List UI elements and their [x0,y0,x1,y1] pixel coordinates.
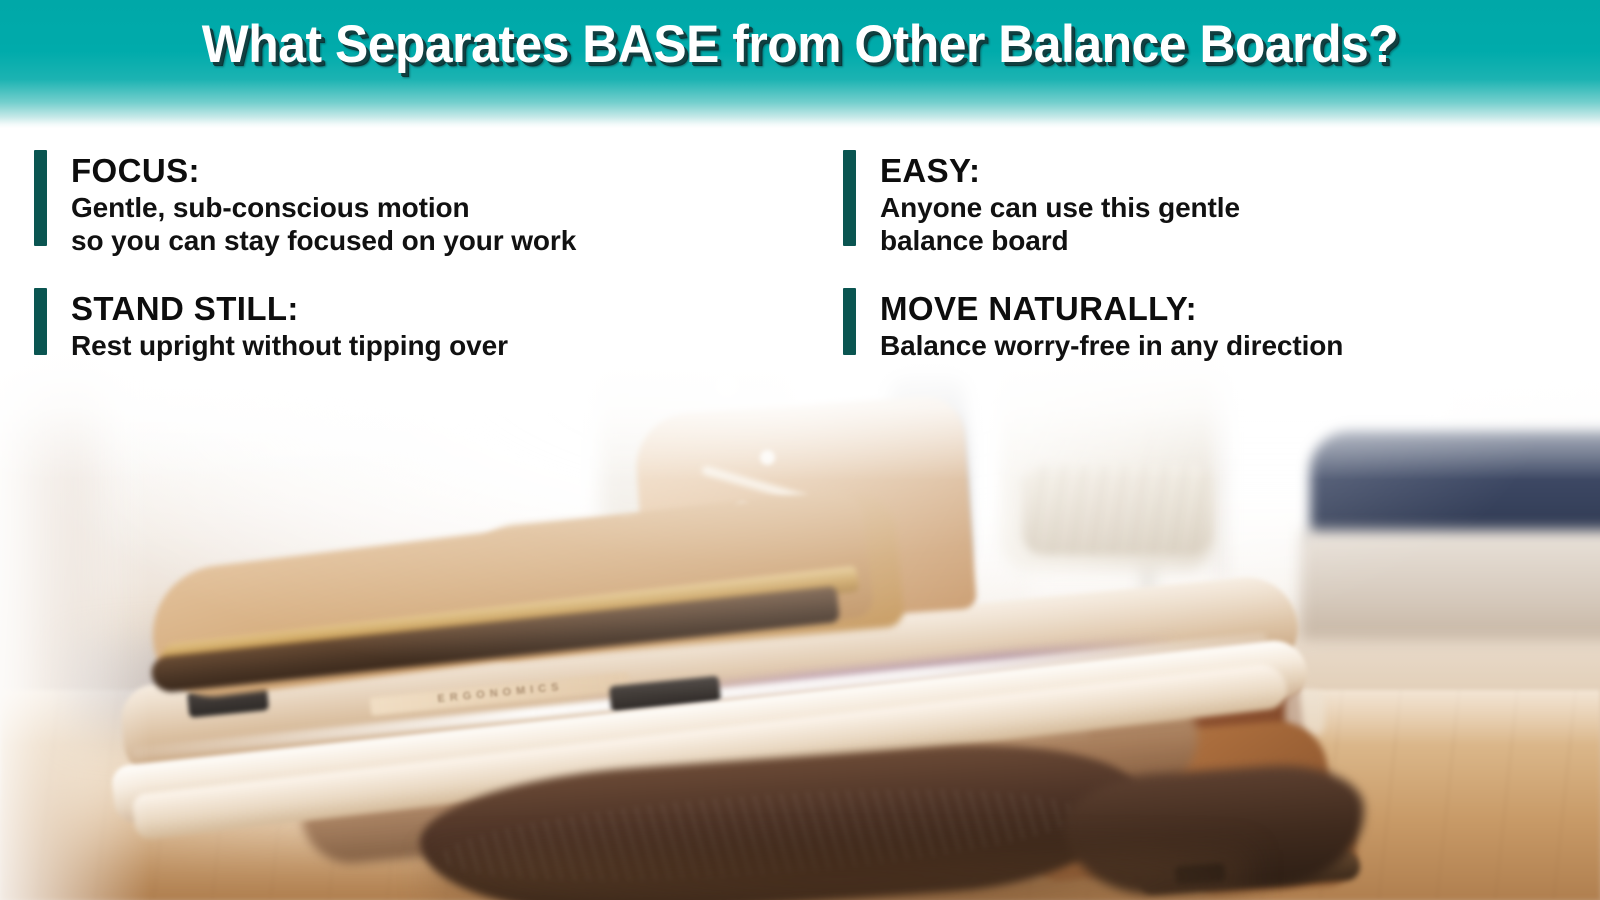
accent-bar [843,288,856,355]
feature-line: Gentle, sub-conscious motion [71,191,576,224]
feature-text: EASY: Anyone can use this gentle balance… [880,150,1240,257]
feature-heading: STAND STILL: [71,289,508,329]
accent-bar [843,150,856,246]
infographic-poster: ERGONOMICS What Separates BASE from Othe… [0,0,1600,900]
feature-grid: FOCUS: Gentle, sub-conscious motion so y… [0,128,1600,366]
feature-easy: EASY: Anyone can use this gentle balance… [843,150,1240,257]
feature-line: Rest upright without tipping over [71,329,508,362]
feature-heading: MOVE NATURALLY: [880,289,1343,329]
feature-stand-still: STAND STILL: Rest upright without tippin… [34,288,508,362]
accent-bar [34,150,47,246]
lifestyle-photo: ERGONOMICS [0,330,1600,900]
feature-heading: FOCUS: [71,151,576,191]
feature-line: so you can stay focused on your work [71,224,576,257]
page-title: What Separates BASE from Other Balance B… [48,14,1552,76]
feature-text: MOVE NATURALLY: Balance worry-free in an… [880,288,1343,362]
accent-bar [34,288,47,355]
feature-heading: EASY: [880,151,1240,191]
feature-line: balance board [880,224,1240,257]
feature-line: Balance worry-free in any direction [880,329,1343,362]
feature-text: STAND STILL: Rest upright without tippin… [71,288,508,362]
header-banner: What Separates BASE from Other Balance B… [0,0,1600,128]
feature-line: Anyone can use this gentle [880,191,1240,224]
feature-text: FOCUS: Gentle, sub-conscious motion so y… [71,150,576,257]
feature-focus: FOCUS: Gentle, sub-conscious motion so y… [34,150,576,257]
feature-move-naturally: MOVE NATURALLY: Balance worry-free in an… [843,288,1343,362]
